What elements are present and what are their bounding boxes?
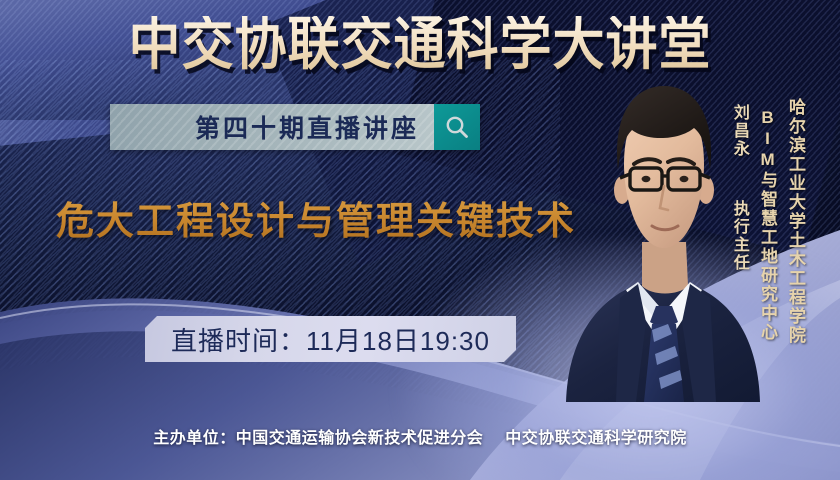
speaker-name: 刘昌永 (730, 104, 748, 158)
episode-label: 第四十期直播讲座 (125, 109, 419, 145)
speaker-lab: BIM与智慧工地研究中心 (758, 108, 777, 342)
lecture-topic-title: 危大工程设计与管理关键技术 (56, 190, 576, 245)
episode-banner-body: 第四十期直播讲座 (110, 104, 434, 150)
broadcast-time-badge: 直播时间：11月18日19:30 (145, 316, 516, 362)
page-title: 中交协联交通科学大讲堂 (0, 16, 840, 73)
speaker-role: 执行主任 (730, 200, 748, 272)
search-icon (444, 114, 470, 140)
footer-co-organizer: 中交协联交通科学研究院 (505, 430, 687, 447)
speaker-organization: 哈尔滨工业大学土木工程学院 (786, 98, 805, 345)
search-button[interactable] (434, 104, 480, 150)
episode-banner: 第四十期直播讲座 (110, 104, 480, 150)
broadcast-time-label: 直播时间：11月18日19:30 (171, 321, 490, 358)
webinar-poster: 中交协联交通科学大讲堂 第四十期直播讲座 危大工程设计与管理关键技术 直播时间：… (0, 0, 840, 480)
footer: 主办单位：中国交通运输协会新技术促进分会中交协联交通科学研究院 (0, 424, 840, 448)
footer-organizer: 主办单位：中国交通运输协会新技术促进分会 (153, 430, 483, 447)
